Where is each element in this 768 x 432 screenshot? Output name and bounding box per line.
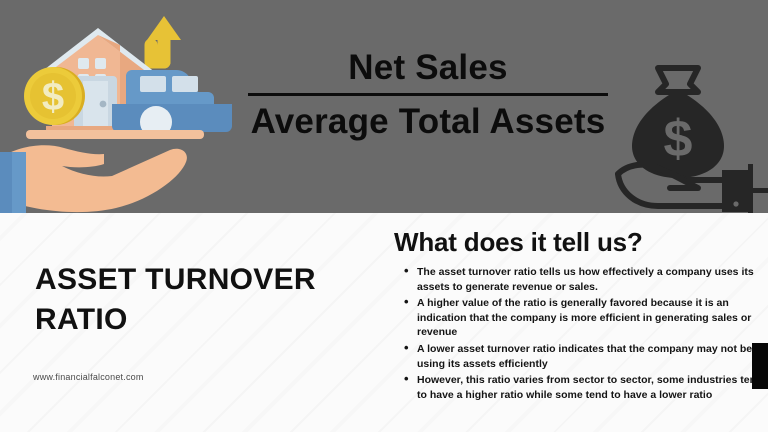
list-item: A higher value of the ratio is generally… bbox=[408, 296, 768, 340]
hand-holding-house-coin-car-arrow-illustration: $ bbox=[0, 0, 240, 213]
list-item: The asset turnover ratio tells us how ef… bbox=[408, 265, 768, 294]
site-url-label: www.financialfalconet.com bbox=[33, 372, 144, 382]
page-title: ASSET TURNOVER RATIO bbox=[35, 260, 365, 340]
svg-text:$: $ bbox=[42, 75, 64, 119]
hand-holding-money-bag-icon: $ bbox=[612, 52, 768, 213]
list-item: A lower asset turnover ratio indicates t… bbox=[408, 342, 768, 371]
slide-canvas: $ Net Sales Average Total Assets bbox=[0, 0, 768, 432]
explanation-bullet-list: The asset turnover ratio tells us how ef… bbox=[394, 265, 768, 404]
header-banner: $ Net Sales Average Total Assets bbox=[0, 0, 768, 213]
formula-numerator: Net Sales bbox=[248, 46, 608, 90]
section-heading: What does it tell us? bbox=[394, 227, 643, 258]
formula-denominator: Average Total Assets bbox=[248, 100, 608, 144]
right-edge-accent-tab bbox=[752, 343, 768, 389]
asset-turnover-formula: Net Sales Average Total Assets bbox=[248, 46, 608, 144]
svg-text:$: $ bbox=[664, 110, 693, 168]
list-item: However, this ratio varies from sector t… bbox=[408, 373, 768, 402]
formula-fraction-bar bbox=[248, 93, 608, 96]
